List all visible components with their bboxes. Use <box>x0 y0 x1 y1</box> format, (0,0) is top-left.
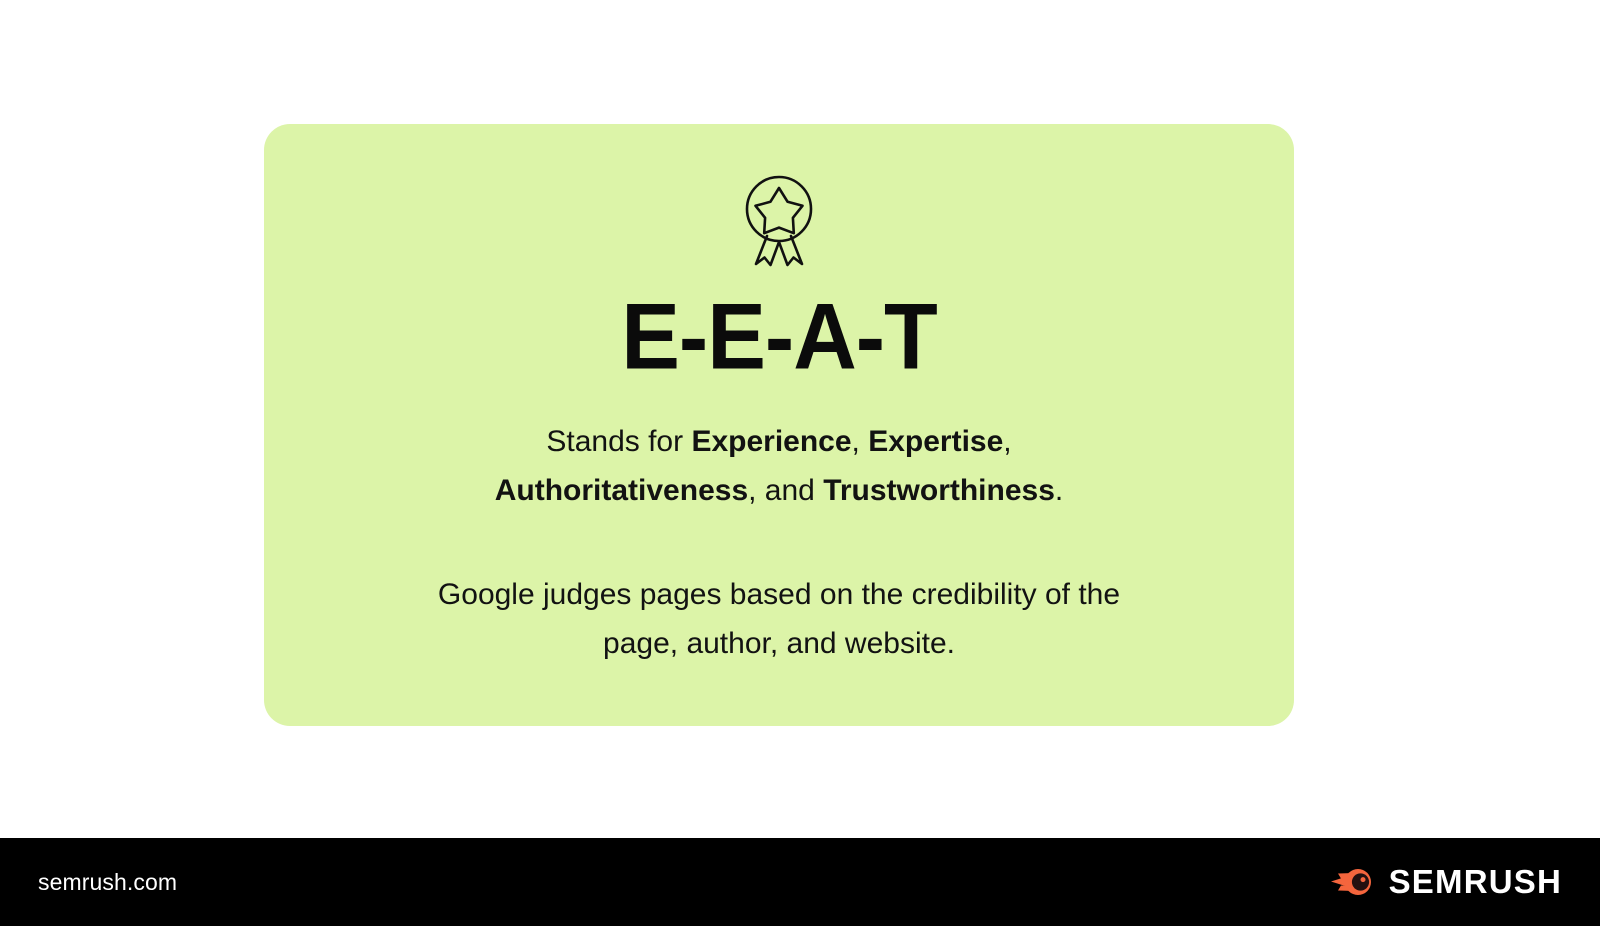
stands-for-prefix: Stands for <box>546 425 691 458</box>
stands-for-suffix: . <box>1055 474 1063 507</box>
term-authoritativeness: Authoritativeness <box>495 474 748 507</box>
main-stage: E-E-A-T Stands for Experience, Expertise… <box>0 0 1600 838</box>
eeat-info-card: E-E-A-T Stands for Experience, Expertise… <box>264 124 1294 726</box>
term-trustworthiness: Trustworthiness <box>823 474 1055 507</box>
semrush-logo: SEMRUSH <box>1330 863 1562 901</box>
page-title: E-E-A-T <box>621 290 937 383</box>
semrush-wordmark: SEMRUSH <box>1389 863 1562 901</box>
semrush-comet-logo-icon <box>1330 865 1376 899</box>
separator-1: , <box>852 425 869 458</box>
explainer-text: Google judges pages based on the credibi… <box>399 571 1159 668</box>
award-ribbon-icon <box>736 168 822 268</box>
footer-url: semrush.com <box>38 869 177 896</box>
term-experience: Experience <box>691 425 851 458</box>
term-expertise: Expertise <box>868 425 1003 458</box>
stands-for-text: Stands for Experience, Expertise, Author… <box>419 418 1139 515</box>
separator-2: , <box>1003 425 1011 458</box>
footer-bar: semrush.com SEMRUSH <box>0 838 1600 926</box>
separator-3: , and <box>748 474 823 507</box>
